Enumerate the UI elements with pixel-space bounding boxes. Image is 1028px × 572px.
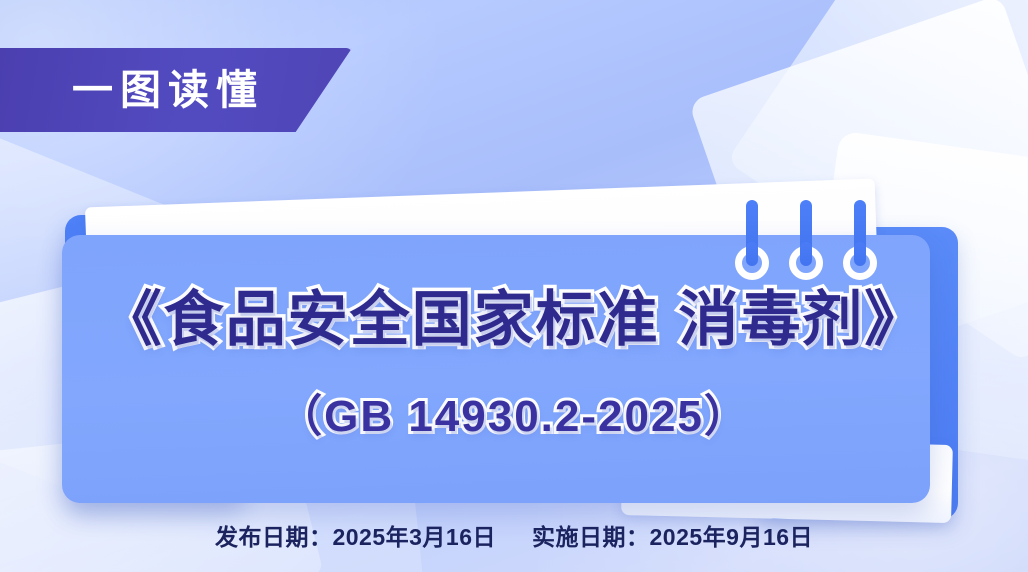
effective-date: 实施日期：2025年9月16日 [532, 518, 813, 552]
standard-code-subtitle: （GB 14930.2-2025） [0, 393, 1028, 441]
ribbon-label: 一图读懂 [72, 70, 264, 111]
binder-ring-bar-front [800, 242, 812, 266]
binder-ring-icon [735, 198, 769, 280]
dates-row: 发布日期：2025年3月16日 实施日期：2025年9月16日 [0, 518, 1028, 552]
poster-root: 一图读懂 《食品安全国家标准 消毒剂》 （GB 14930.2-2025） [0, 0, 1028, 572]
binder-ring-bar-front [746, 242, 758, 266]
publish-date: 发布日期：2025年3月16日 [215, 518, 496, 552]
ribbon-banner: 一图读懂 [0, 48, 352, 132]
binder-ring-icon [789, 198, 823, 280]
binder-ring-bar-front [854, 242, 866, 266]
binder-ring-icon [843, 198, 877, 280]
binder-rings-group [735, 198, 875, 280]
page-title: 《食品安全国家标准 消毒剂》 [0, 286, 1028, 353]
